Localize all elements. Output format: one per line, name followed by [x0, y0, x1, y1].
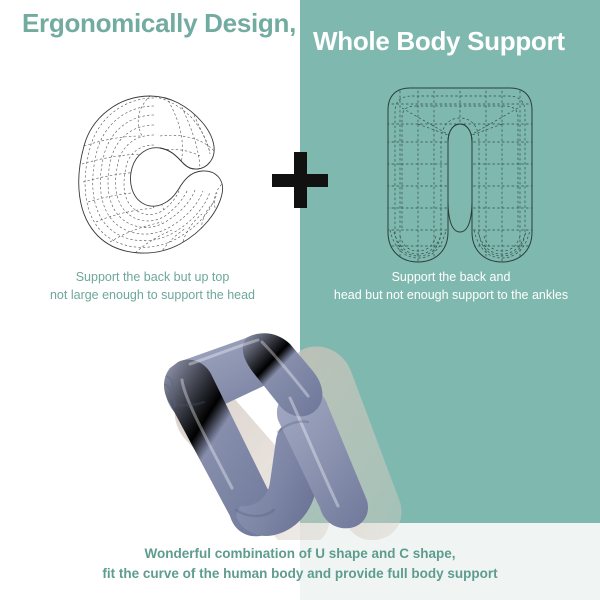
- heading-left: Ergonomically Design,: [22, 8, 296, 39]
- caption-right: Support the back and head but not enough…: [310, 268, 592, 304]
- u-shape-pillow-wireframe: [372, 80, 548, 268]
- caption-left: Support the back but up top not large en…: [20, 268, 285, 304]
- footer-line2: fit the curve of the human body and prov…: [50, 564, 550, 584]
- plus-sign-icon: [272, 152, 328, 208]
- footer-line1: Wonderful combination of U shape and C s…: [50, 544, 550, 564]
- caption-right-line1: Support the back and: [310, 268, 592, 286]
- c-shape-pillow-wireframe: [62, 84, 242, 264]
- caption-right-line2: head but not enough support to the ankle…: [310, 286, 592, 304]
- caption-left-line2: not large enough to support the head: [20, 286, 285, 304]
- footer-caption: Wonderful combination of U shape and C s…: [50, 544, 550, 585]
- plus-vertical-bar: [294, 152, 307, 208]
- u-shaped-body-pillow-photo: [150, 320, 450, 540]
- heading-right: Whole Body Support: [313, 26, 565, 57]
- poster-canvas: Ergonomically Design, Whole Body Support: [0, 0, 600, 600]
- caption-left-line1: Support the back but up top: [20, 268, 285, 286]
